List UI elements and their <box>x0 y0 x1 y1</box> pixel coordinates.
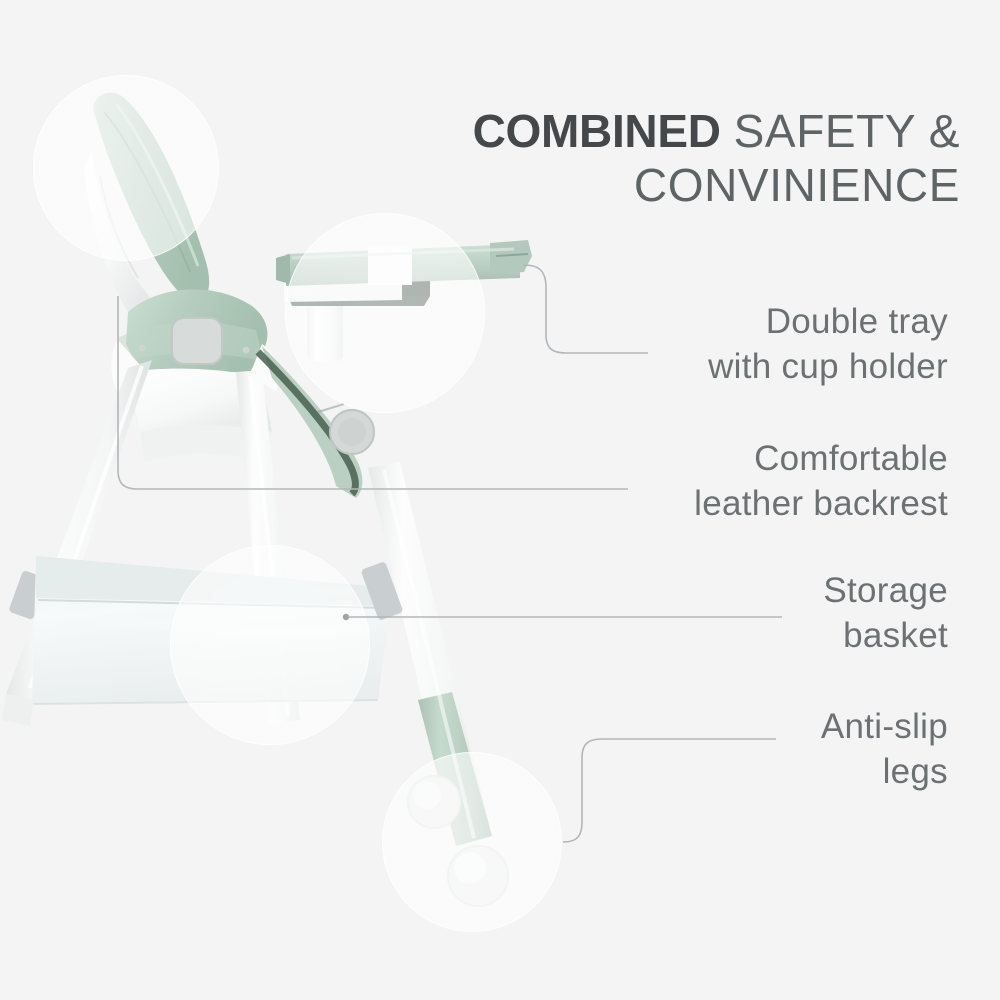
highlight-circle-storage <box>170 545 370 745</box>
callout-legs-line-1: Anti-slip <box>821 705 948 750</box>
callout-label-storage: Storage basket <box>823 569 948 659</box>
callout-label-backrest: Comfortable leather backrest <box>694 437 948 527</box>
page-title-strong: COMBINED <box>473 105 721 157</box>
callout-label-tray: Double tray with cup holder <box>708 300 948 390</box>
callout-backrest-line-1: Comfortable <box>694 437 948 482</box>
callout-storage-line-2: basket <box>823 614 948 659</box>
harness-buckle <box>172 318 222 364</box>
highlight-circle-backrest <box>33 75 219 261</box>
page-title-line-2: CONVINIENCE <box>340 158 960 212</box>
callout-tray-line-2: with cup holder <box>708 345 948 390</box>
page-title-light-2: CONVINIENCE <box>634 159 960 211</box>
page-title-light-1: SAFETY & <box>734 105 960 157</box>
callout-tray-line-1: Double tray <box>708 300 948 345</box>
highlight-circle-legs <box>382 752 562 932</box>
infographic-poster: COMBINED SAFETY & CONVINIENCE Double tra… <box>0 0 1000 1000</box>
callout-storage-line-1: Storage <box>823 569 948 614</box>
page-title-line-1: COMBINED SAFETY & <box>340 104 960 158</box>
callout-label-legs: Anti-slip legs <box>821 705 948 795</box>
callout-legs-line-2: legs <box>821 750 948 795</box>
highlight-circle-tray <box>285 213 485 413</box>
callout-backrest-line-2: leather backrest <box>694 482 948 527</box>
page-title: COMBINED SAFETY & CONVINIENCE <box>340 104 960 213</box>
